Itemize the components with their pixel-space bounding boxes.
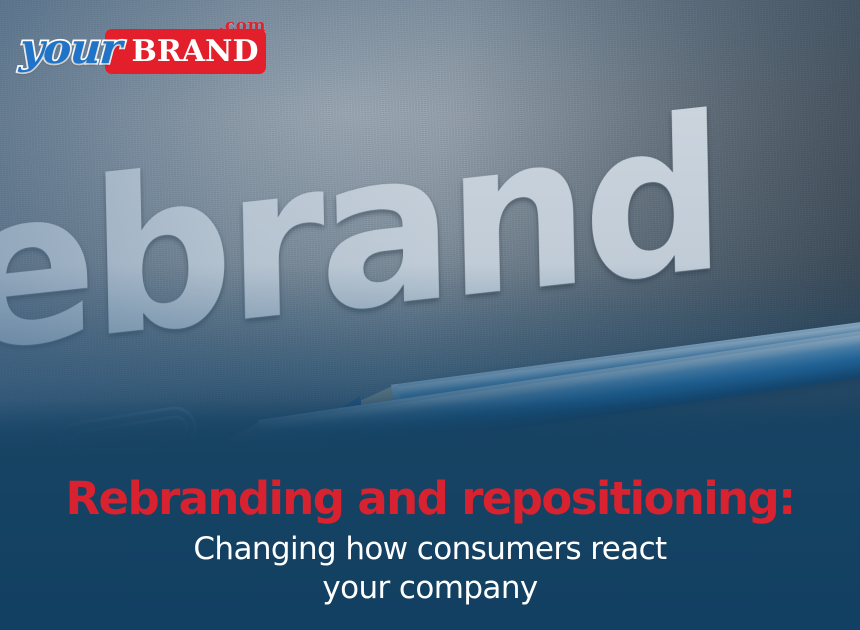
logo-brand-text: BRAND — [126, 34, 264, 70]
logo-script-text: your — [18, 25, 122, 73]
caption-fade — [0, 400, 860, 458]
caption-text-block: Rebranding and repositioning: Changing h… — [0, 476, 860, 608]
subtitle: Changing how consumers react your compan… — [16, 530, 844, 608]
site-logo[interactable]: .com BRAND your — [16, 10, 268, 80]
article-hero-banner: rebrand — [0, 0, 860, 630]
subtitle-line-1: Changing how consumers react — [193, 531, 666, 567]
headline: Rebranding and repositioning: — [16, 476, 844, 521]
subtitle-line-2: your company — [16, 569, 844, 608]
